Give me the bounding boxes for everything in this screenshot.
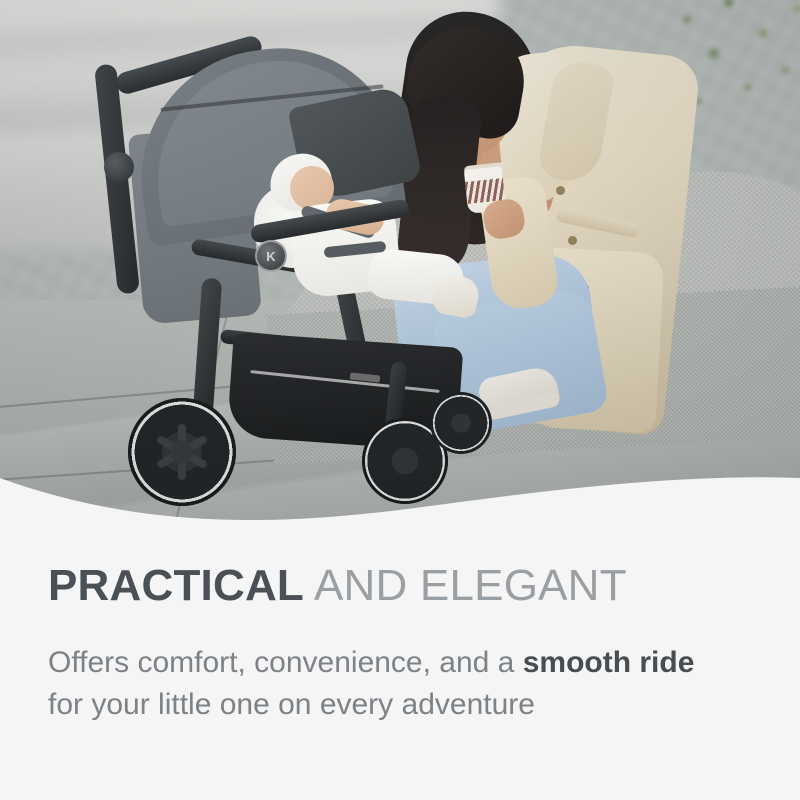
baby-figure (248, 148, 478, 378)
subcopy-part-2: for your little one on every adventure (48, 688, 535, 721)
headline-rest: AND ELEGANT (304, 561, 627, 610)
stroller-frame-joint (104, 152, 134, 182)
subheading: Offers comfort, convenience, and a smoot… (48, 642, 728, 727)
wheel-hub (171, 441, 193, 463)
stroller-front-wheel-secondary (430, 392, 492, 454)
copy-block: PRACTICAL AND ELEGANT Offers comfort, co… (48, 563, 748, 727)
hero-photo: K (0, 0, 800, 520)
promo-card: K PRACTICAL AND ELEGANT Offers comfort, … (0, 0, 800, 800)
subcopy-part-1: Offers comfort, convenience, and a (48, 646, 523, 679)
headline-emphasis: PRACTICAL (48, 561, 304, 610)
page-title: PRACTICAL AND ELEGANT (48, 563, 748, 610)
subcopy-bold: smooth ride (523, 646, 695, 679)
woman-coat-button (568, 236, 577, 245)
baby-shoe (431, 272, 481, 319)
stroller-rear-wheel (128, 398, 236, 506)
woman-coat-button (556, 186, 565, 195)
